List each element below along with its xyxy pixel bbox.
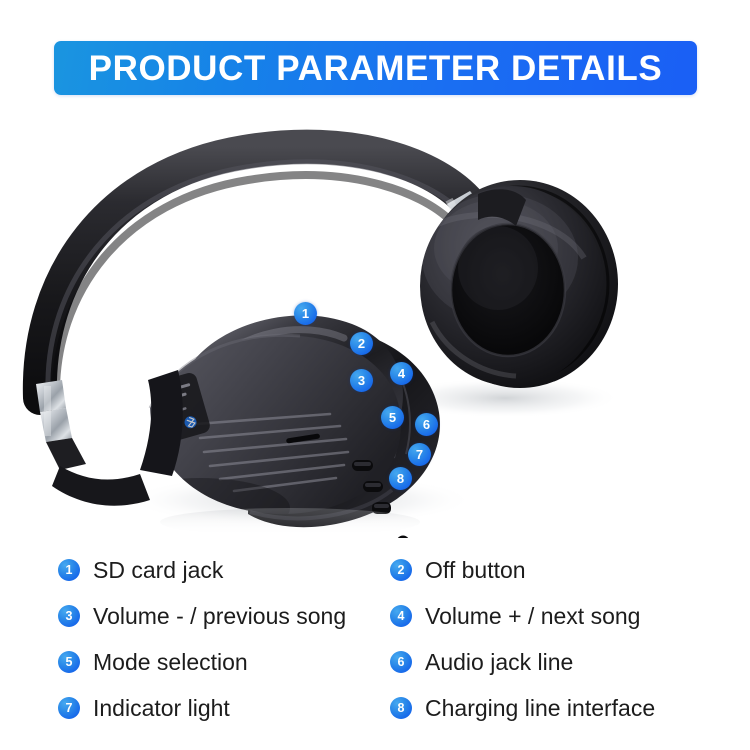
legend-badge-5: 5 xyxy=(58,651,80,673)
legend-label-8: Charging line interface xyxy=(425,697,655,720)
legend-label-4: Volume + / next song xyxy=(425,605,640,628)
legend-badge-8: 8 xyxy=(390,697,412,719)
legend-label-7: Indicator light xyxy=(93,697,230,720)
callout-badge-1[interactable]: 1 xyxy=(294,302,317,325)
legend-label-3: Volume - / previous song xyxy=(93,605,346,628)
headphones-illustration xyxy=(0,108,750,538)
legend-label-2: Off button xyxy=(425,559,526,582)
legend-label-6: Audio jack line xyxy=(425,651,573,674)
callout-badge-4[interactable]: 4 xyxy=(390,362,413,385)
legend-label-1: SD card jack xyxy=(93,559,223,582)
headband-slider-left xyxy=(36,380,150,506)
callout-badge-6[interactable]: 6 xyxy=(415,413,438,436)
callout-badge-3[interactable]: 3 xyxy=(350,369,373,392)
legend-badge-1: 1 xyxy=(58,559,80,581)
legend-item-1: 1 SD card jack xyxy=(58,554,223,586)
legend-item-6: 6 Audio jack line xyxy=(390,646,573,678)
legend-badge-2: 2 xyxy=(390,559,412,581)
legend-badge-6: 6 xyxy=(390,651,412,673)
legend-badge-3: 3 xyxy=(58,605,80,627)
legend-item-3: 3 Volume - / previous song xyxy=(58,600,346,632)
callout-badge-2[interactable]: 2 xyxy=(350,332,373,355)
right-earcup xyxy=(420,180,618,388)
legend-item-7: 7 Indicator light xyxy=(58,692,230,724)
callout-badge-5[interactable]: 5 xyxy=(381,406,404,429)
legend-badge-7: 7 xyxy=(58,697,80,719)
page-header-banner: PRODUCT PARAMETER DETAILS xyxy=(54,41,697,95)
legend-item-8: 8 Charging line interface xyxy=(390,692,655,724)
page-title: PRODUCT PARAMETER DETAILS xyxy=(89,51,663,86)
audio-jack-port xyxy=(397,536,410,539)
callout-badge-7[interactable]: 7 xyxy=(408,443,431,466)
legend-item-4: 4 Volume + / next song xyxy=(390,600,640,632)
legend-label-5: Mode selection xyxy=(93,651,248,674)
callout-badge-8[interactable]: 8 xyxy=(389,467,412,490)
product-photo: 1 2 3 4 5 6 7 8 xyxy=(0,108,750,538)
legend-item-5: 5 Mode selection xyxy=(58,646,248,678)
legend-badge-4: 4 xyxy=(390,605,412,627)
legend-item-2: 2 Off button xyxy=(390,554,526,586)
parameter-legend: 1 SD card jack 2 Off button 3 Volume - /… xyxy=(0,544,750,750)
